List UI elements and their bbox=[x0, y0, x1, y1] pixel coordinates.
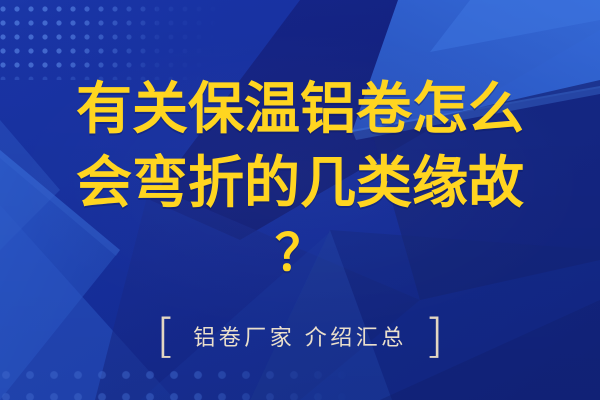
dot-grid-top-left bbox=[0, 2, 156, 70]
subtitle-row: [ 铝卷厂家 介绍汇总 ] bbox=[0, 313, 600, 359]
right-bracket-icon: ] bbox=[423, 313, 444, 359]
left-bracket-icon: [ bbox=[156, 313, 177, 359]
headline-line-1: 有关保温铝卷怎么 bbox=[0, 72, 600, 146]
headline-line-2: 会弯折的几类缘故 bbox=[0, 146, 600, 220]
dot-grid-bottom-left bbox=[0, 364, 354, 400]
subtitle-text: 铝卷厂家 介绍汇总 bbox=[193, 320, 407, 352]
dot-grid-top-left-wide bbox=[0, 2, 296, 80]
headline-block: 有关保温铝卷怎么 会弯折的几类缘故 ？ bbox=[0, 72, 600, 286]
headline-line-3: ？ bbox=[0, 220, 600, 286]
promo-banner: 有关保温铝卷怎么 会弯折的几类缘故 ？ [ 铝卷厂家 介绍汇总 ] bbox=[0, 0, 600, 400]
